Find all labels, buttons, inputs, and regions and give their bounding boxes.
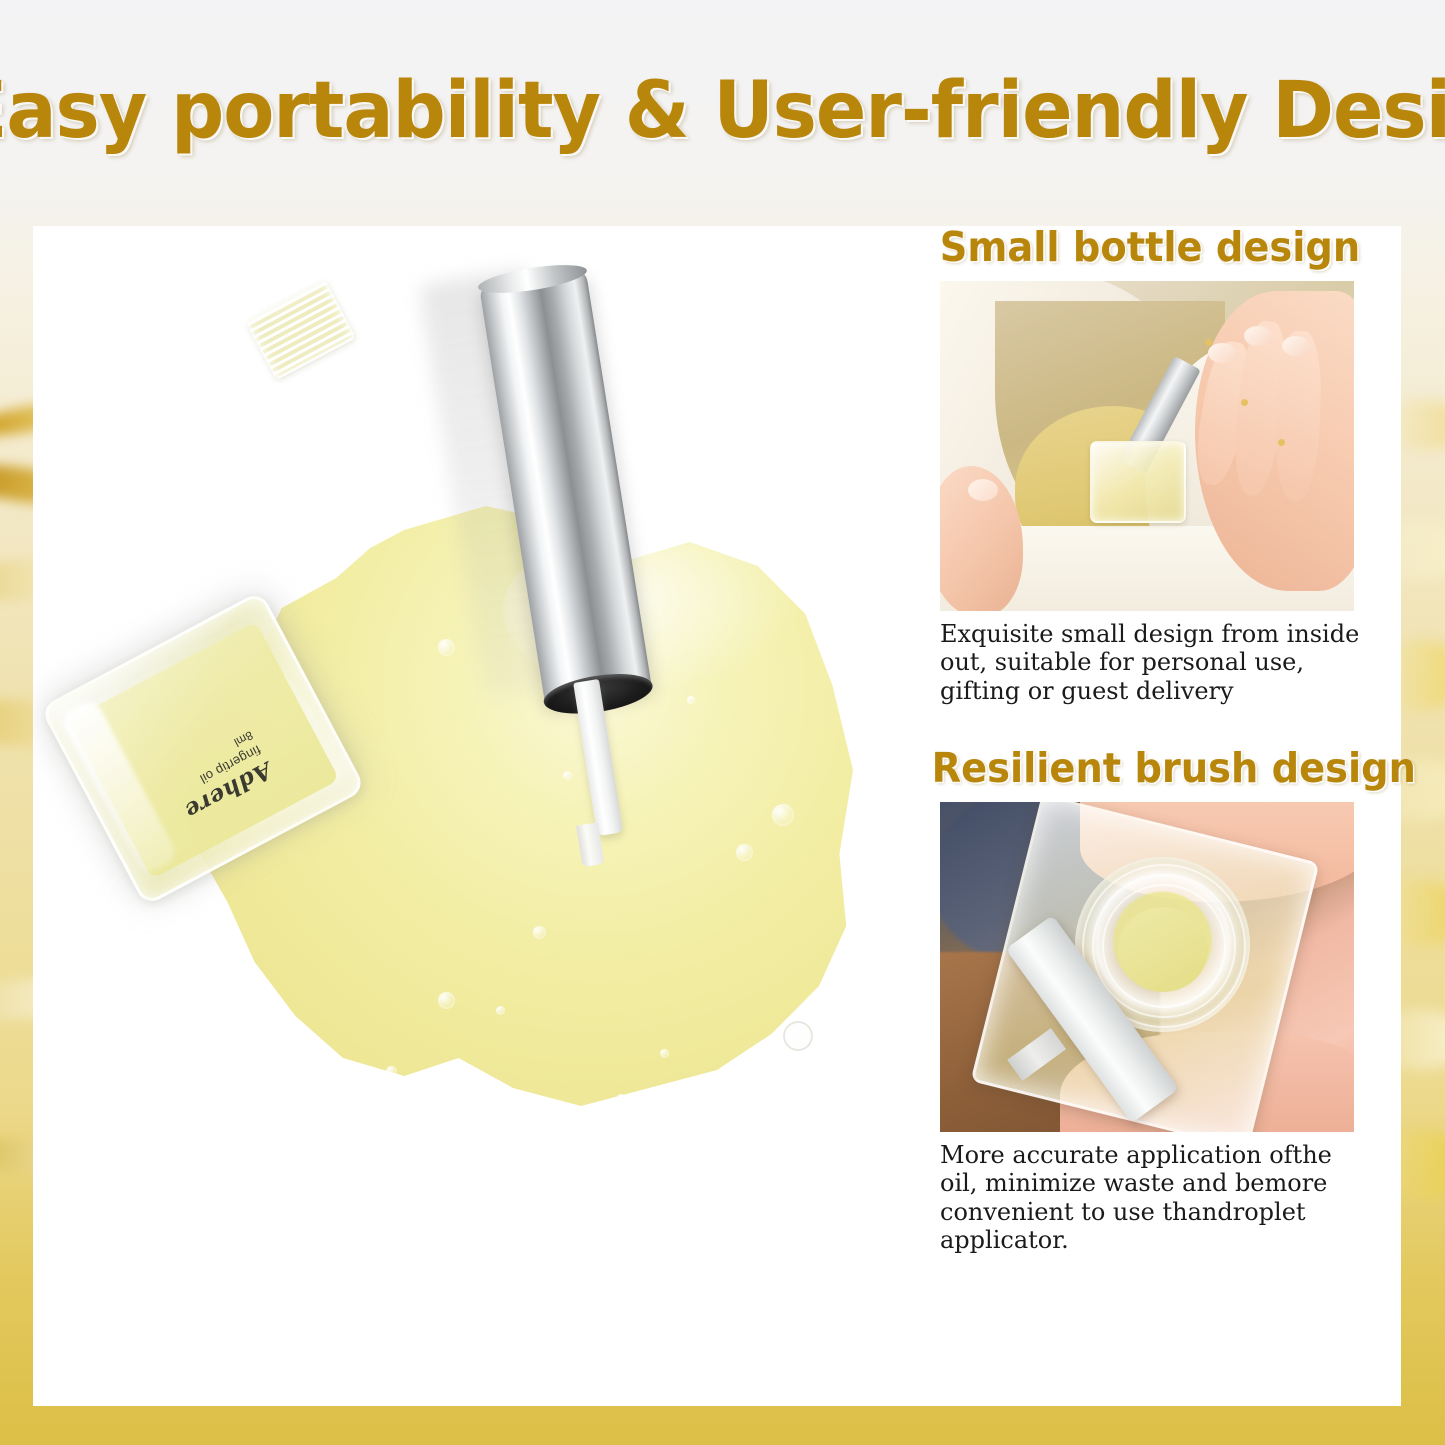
feature-caption-resilient-brush: More accurate application ofthe oil, min… <box>940 1141 1360 1254</box>
fingernail <box>1282 336 1310 356</box>
nail-gem <box>1205 339 1212 346</box>
feature-heading-small-bottle: Small bottle design <box>932 226 1369 269</box>
nail-gem <box>1278 439 1285 446</box>
feature-column: Small bottle design <box>940 226 1360 1406</box>
small-glass-bottle <box>1090 441 1186 523</box>
oil-inside-bottle <box>1118 907 1208 992</box>
hero-product-image: Adhere fingertip oil 8ml <box>33 226 933 1406</box>
oil-bubble <box>772 804 794 826</box>
bottle-threaded-neck <box>246 280 356 381</box>
oil-bubble <box>783 1021 813 1051</box>
fingernail <box>1208 343 1236 363</box>
oil-bubble <box>386 1066 397 1077</box>
oil-bubble <box>617 1094 625 1102</box>
feature-caption-small-bottle: Exquisite small design from inside out, … <box>940 620 1360 705</box>
feature-photo-small-bottle <box>940 281 1354 611</box>
page-title: Easy portability & User-friendly Design <box>0 72 1445 150</box>
oil-bubble <box>438 992 455 1009</box>
product-infographic: Easy portability & User-friendly Design <box>0 0 1445 1445</box>
nail-gem <box>1241 399 1248 406</box>
oil-bubble <box>438 639 455 656</box>
oil-bubble <box>563 771 572 780</box>
fingernail <box>1244 326 1272 346</box>
feature-heading-resilient-brush: Resilient brush design <box>932 747 1369 790</box>
feature-block-small-bottle: Small bottle design <box>940 226 1360 705</box>
oil-bubble <box>660 1049 669 1058</box>
left-hand-nail <box>968 479 998 501</box>
cap-top <box>476 259 588 298</box>
feature-block-resilient-brush: Resilient brush design More accurate app… <box>940 747 1360 1254</box>
oil-bubble <box>687 696 695 704</box>
oil-bubble <box>736 844 753 861</box>
oil-bubble <box>496 1006 505 1015</box>
feature-photo-resilient-brush <box>940 802 1354 1132</box>
oil-bubble <box>533 926 546 939</box>
